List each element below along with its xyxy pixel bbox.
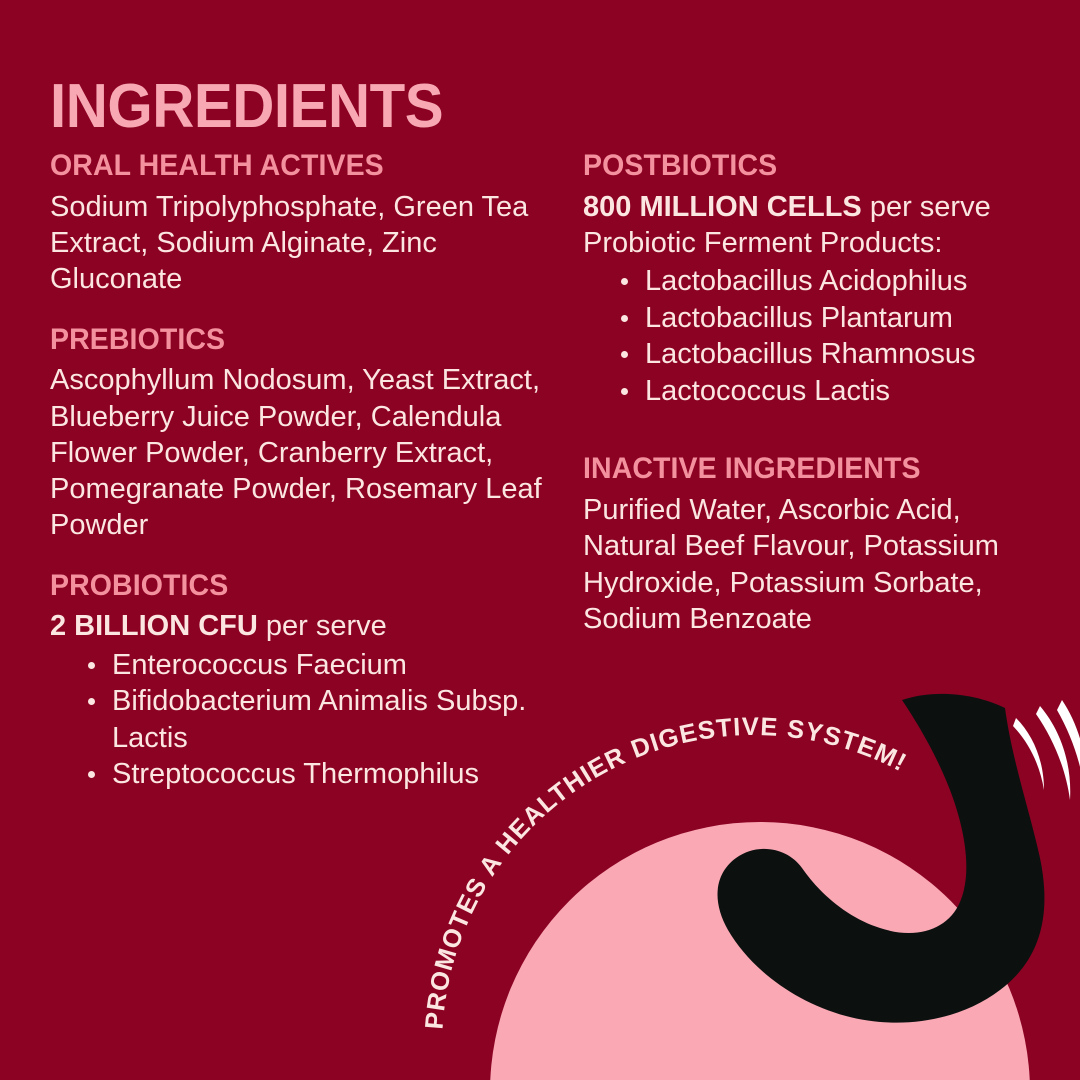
list-item-label: Lactococcus Lactis xyxy=(645,375,890,407)
section-heading: PROBIOTICS xyxy=(50,570,525,602)
list-item-label: Lactobacillus Acidophilus xyxy=(645,265,967,297)
postbiotics-strain-list: Lactobacillus Acidophilus Lactobacillus … xyxy=(583,263,1053,409)
section-body: Purified Water, Ascorbic Acid, Natural B… xyxy=(583,492,1053,637)
bullet-dot-icon xyxy=(88,771,95,778)
section-heading: ORAL HEALTH ACTIVES xyxy=(50,150,525,182)
content-area: INGREDIENTS ORAL HEALTH ACTIVES Sodium T… xyxy=(0,0,1080,1080)
list-item-label: Enterococcus Faecium xyxy=(112,649,407,681)
section-heading: POSTBIOTICS xyxy=(583,150,1030,182)
list-item: Lactobacillus Acidophilus xyxy=(621,263,1053,300)
right-column: POSTBIOTICS 800 MILLION CELLS per serve … xyxy=(583,150,1053,637)
section-inactive-ingredients: INACTIVE INGREDIENTS Purified Water, Asc… xyxy=(583,453,1053,637)
dose-amount: 2 BILLION CFU xyxy=(50,610,258,642)
bullet-dot-icon xyxy=(621,278,628,285)
list-item: Bifidobacterium Animalis Subsp. Lactis xyxy=(88,683,550,756)
page-title: INGREDIENTS xyxy=(50,76,443,138)
list-item: Lactobacillus Rhamnosus xyxy=(621,336,1053,373)
bullet-dot-icon xyxy=(621,315,628,322)
section-prebiotics: PREBIOTICS Ascophyllum Nodosum, Yeast Ex… xyxy=(50,324,550,544)
list-item-label: Lactobacillus Plantarum xyxy=(645,302,953,334)
section-probiotics: PROBIOTICS 2 BILLION CFU per serve Enter… xyxy=(50,570,550,793)
postbiotics-sub-label: Probiotic Ferment Products: xyxy=(583,225,1053,261)
list-item-label: Bifidobacterium Animalis Subsp. Lactis xyxy=(112,685,526,754)
list-item: Lactococcus Lactis xyxy=(621,373,1053,410)
list-item: Lactobacillus Plantarum xyxy=(621,300,1053,337)
ingredients-panel: PROMOTES A HEALTHIER DIGESTIVE SYSTEM! I… xyxy=(0,0,1080,1080)
bullet-dot-icon xyxy=(621,388,628,395)
section-postbiotics: POSTBIOTICS 800 MILLION CELLS per serve … xyxy=(583,150,1053,409)
postbiotics-dose-line: 800 MILLION CELLS per serve xyxy=(583,189,1053,225)
list-item-label: Lactobacillus Rhamnosus xyxy=(645,338,975,370)
list-item: Streptococcus Thermophilus xyxy=(88,756,550,793)
left-column: ORAL HEALTH ACTIVES Sodium Tripolyphosph… xyxy=(50,150,550,793)
probiotics-dose-line: 2 BILLION CFU per serve xyxy=(50,608,550,644)
section-body: Sodium Tripolyphosphate, Green Tea Extra… xyxy=(50,189,550,298)
section-body: Ascophyllum Nodosum, Yeast Extract, Blue… xyxy=(50,362,550,543)
dose-unit: per serve xyxy=(258,610,387,642)
column-spacer xyxy=(583,435,1053,453)
list-item: Enterococcus Faecium xyxy=(88,647,550,684)
section-oral-health-actives: ORAL HEALTH ACTIVES Sodium Tripolyphosph… xyxy=(50,150,550,298)
bullet-dot-icon xyxy=(621,351,628,358)
section-heading: INACTIVE INGREDIENTS xyxy=(583,453,1030,485)
probiotics-strain-list: Enterococcus Faecium Bifidobacterium Ani… xyxy=(50,647,550,793)
bullet-dot-icon xyxy=(88,662,95,669)
list-item-label: Streptococcus Thermophilus xyxy=(112,758,479,790)
dose-amount: 800 MILLION CELLS xyxy=(583,191,862,223)
section-heading: PREBIOTICS xyxy=(50,324,525,356)
bullet-dot-icon xyxy=(88,698,95,705)
dose-unit: per serve xyxy=(862,191,991,223)
